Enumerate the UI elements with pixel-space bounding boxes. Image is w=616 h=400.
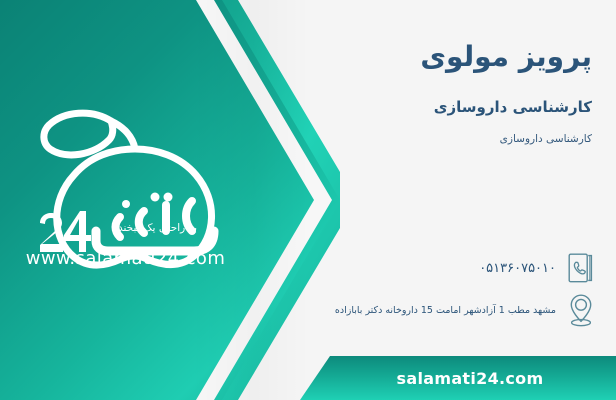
footer-bar: salamati24.com	[300, 356, 616, 400]
logo-website-url[interactable]: www.salamati24.com	[18, 248, 233, 269]
footer-website[interactable]: salamati24.com	[373, 369, 544, 388]
contact-row-address[interactable]: مشهد مطب 1 آزادشهر امامت 15 داروخانه دکت…	[335, 290, 600, 330]
location-pin-icon	[562, 290, 600, 330]
phone-number: ۰۵۱۳۶۰۷۵۰۱۰	[479, 261, 562, 276]
contact-row-phone[interactable]: ۰۵۱۳۶۰۷۵۰۱۰	[479, 248, 600, 288]
person-title-secondary: کارشناسی داروسازی	[500, 133, 592, 145]
person-title-primary: کارشناسی داروسازی	[434, 98, 592, 116]
info-panel: پرویز مولوی کارشناسی داروسازی کارشناسی د…	[326, 0, 616, 400]
person-name: پرویز مولوی	[420, 40, 592, 73]
business-card: به راحتی یک لبخند www.salamati24.com پرو…	[0, 0, 616, 400]
address-text: مشهد مطب 1 آزادشهر امامت 15 داروخانه دکت…	[335, 305, 562, 316]
phone-book-icon	[562, 248, 600, 288]
logo-tagline: به راحتی یک لبخند	[118, 222, 238, 234]
